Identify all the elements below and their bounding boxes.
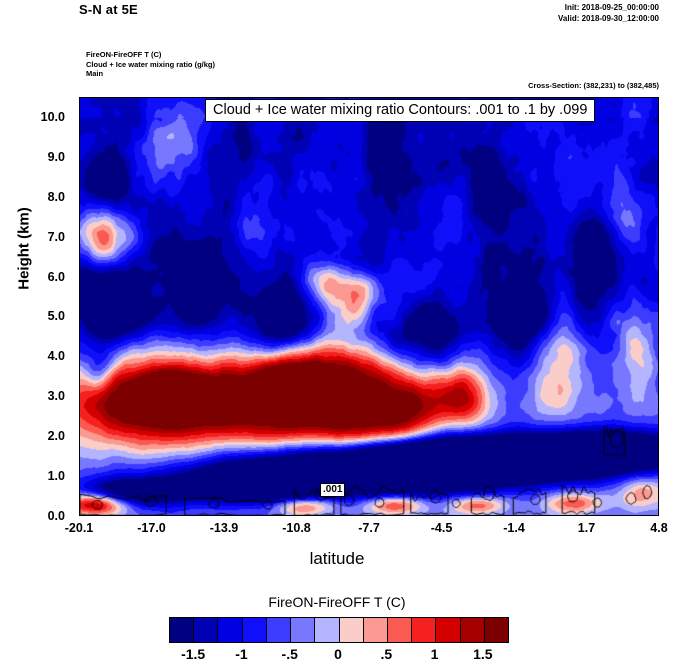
cross-section-plot [79, 97, 659, 516]
colorbar-tick-neg5: .5 [380, 646, 392, 662]
domain-label: Main [86, 69, 215, 79]
y-axis-tick-10-0: 10.0 [41, 110, 65, 124]
colorbar-tick-labels: -1.5-1-.50.511.5 [0, 646, 674, 666]
colorbar-tick-0: 0 [334, 646, 342, 662]
x-axis-tick-neg7-7: -7.7 [358, 521, 380, 535]
contour-info-banner: Cloud + Ice water mixing ratio Contours:… [205, 99, 595, 122]
colorbar-swatch-7 [340, 618, 364, 642]
x-axis-tick-neg1-4: -1.4 [503, 521, 525, 535]
valid-time-label: Valid: 2018-09-30_12:00:00 [434, 13, 659, 24]
y-axis-title: Height (km) [16, 149, 33, 349]
colorbar-tick-neg1: -1 [235, 646, 247, 662]
colorbar-tick-1neg5: 1.5 [473, 646, 492, 662]
init-time-label: Init: 2018-09-25_00:00:00 [434, 2, 659, 13]
x-axis-tick-labels: -20.1-17.0-13.9-10.8-7.7-4.5-1.41.74.8 [0, 521, 674, 541]
colorbar [169, 617, 509, 643]
y-axis-tick-2-0: 2.0 [48, 429, 65, 443]
colorbar-tick-1: 1 [431, 646, 439, 662]
y-axis-tick-labels: 0.01.02.03.04.05.06.07.08.09.010.0 [0, 97, 73, 516]
colorbar-swatch-1 [194, 618, 218, 642]
colorbar-swatch-2 [218, 618, 242, 642]
x-axis-tick-neg13-9: -13.9 [210, 521, 239, 535]
variable-metadata-block: FireON-FireOFF T (C) Cloud + Ice water m… [86, 50, 215, 79]
colorbar-swatch-0 [170, 618, 194, 642]
y-axis-tick-7-0: 7.0 [48, 230, 65, 244]
colorbar-swatch-5 [291, 618, 315, 642]
colorbar-swatch-10 [412, 618, 436, 642]
run-time-block: Init: 2018-09-25_00:00:00 Valid: 2018-09… [434, 2, 659, 24]
y-axis-tick-1-0: 1.0 [48, 469, 65, 483]
y-axis-tick-9-0: 9.0 [48, 150, 65, 164]
colorbar-swatch-6 [315, 618, 339, 642]
x-axis-tick-neg4-5: -4.5 [431, 521, 453, 535]
colorbar-swatch-8 [364, 618, 388, 642]
colorbar-tick-neg-5: -.5 [282, 646, 298, 662]
x-axis-tick-4neg8: 4.8 [650, 521, 667, 535]
x-axis-tick-neg17-0: -17.0 [137, 521, 166, 535]
y-axis-tick-5-0: 5.0 [48, 309, 65, 323]
colorbar-tick-neg1-5: -1.5 [181, 646, 205, 662]
x-axis-title: latitude [0, 549, 674, 569]
x-axis-tick-1neg7: 1.7 [578, 521, 595, 535]
y-axis-tick-3-0: 3.0 [48, 389, 65, 403]
y-axis-tick-4-0: 4.0 [48, 349, 65, 363]
contour-value-label: .001 [320, 483, 345, 497]
page-title: S-N at 5E [79, 2, 138, 17]
temperature-anomaly-field [80, 98, 659, 516]
y-axis-tick-8-0: 8.0 [48, 190, 65, 204]
colorbar-swatch-11 [436, 618, 460, 642]
contour-variable-label: Cloud + Ice water mixing ratio (g/kg) [86, 60, 215, 70]
colorbar-swatch-9 [388, 618, 412, 642]
variable-name-label: FireON-FireOFF T (C) [86, 50, 215, 60]
colorbar-swatch-12 [461, 618, 485, 642]
y-axis-tick-6-0: 6.0 [48, 270, 65, 284]
colorbar-swatch-3 [243, 618, 267, 642]
cross-section-label: Cross-Section: (382,231) to (382,485) [420, 81, 659, 90]
x-axis-tick-neg20-1: -20.1 [65, 521, 94, 535]
x-axis-tick-neg10-8: -10.8 [282, 521, 311, 535]
colorbar-swatch-4 [267, 618, 291, 642]
colorbar-swatch-13 [485, 618, 508, 642]
colorbar-title: FireON-FireOFF T (C) [0, 594, 674, 610]
